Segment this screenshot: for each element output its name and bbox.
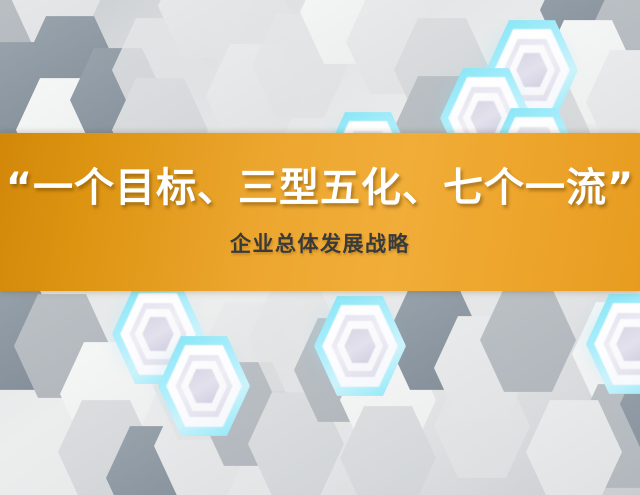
slide-title: “一个目标、三型五化、七个一流” xyxy=(6,166,635,210)
slide-subtitle: 企业总体发展战略 xyxy=(230,228,410,258)
title-banner: “一个目标、三型五化、七个一流” 企业总体发展战略 xyxy=(0,133,640,291)
presentation-slide: “一个目标、三型五化、七个一流” 企业总体发展战略 xyxy=(0,0,640,495)
